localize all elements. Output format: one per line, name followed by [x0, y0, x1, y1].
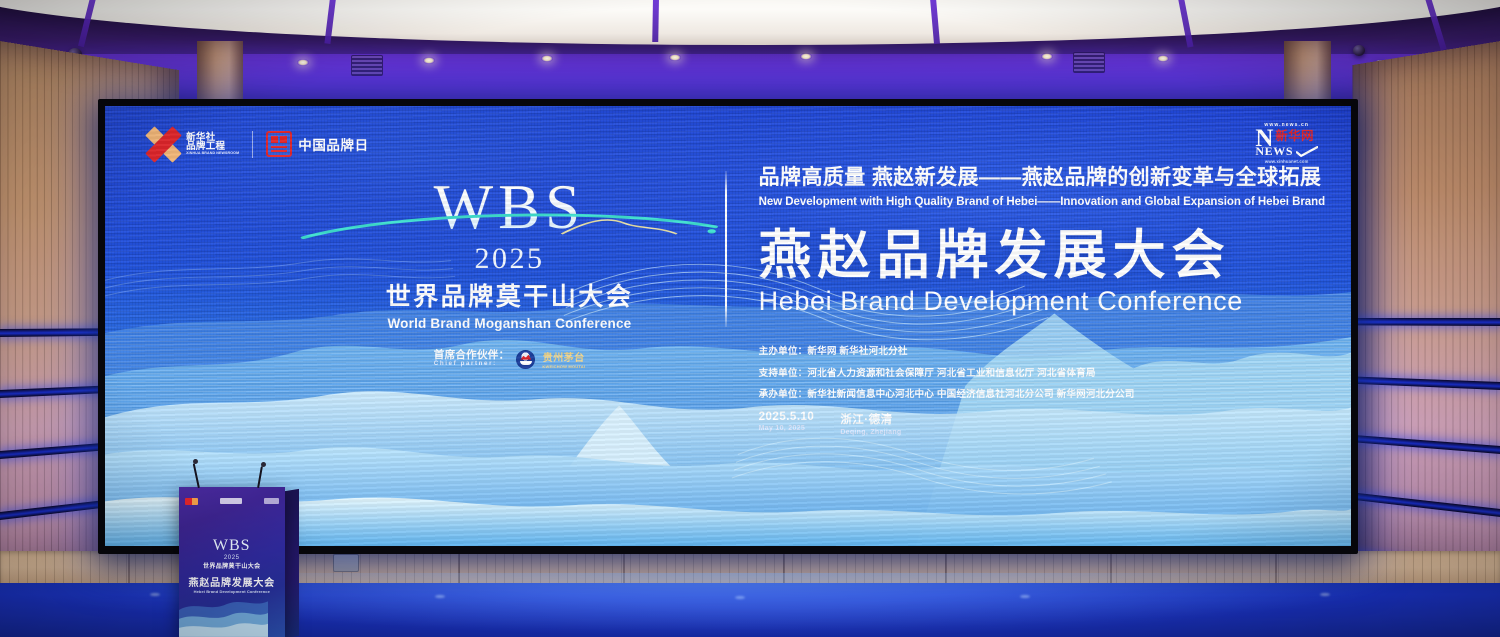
china-brand-day-logo: 中国品牌日: [266, 131, 369, 157]
ceiling-air-vent: [351, 55, 383, 76]
ceiling-downlight: [800, 53, 812, 60]
main-text-column: 品牌高质量 燕赵新发展——燕赵品牌的创新变革与全球拓展 New Developm…: [759, 161, 1326, 436]
speaker-podium[interactable]: WBS 2025 世界品牌莫干山大会 燕赵品牌发展大会 Hebei Brand …: [179, 487, 286, 637]
wall-light-strip: [1352, 493, 1500, 518]
podium-microphone-head: [261, 462, 266, 467]
theme-line-cn: 品牌高质量 燕赵新发展——燕赵品牌的创新变革与全球拓展: [759, 161, 1326, 191]
chief-partner-label: 首席合作伙伴： Chief partner:: [434, 350, 510, 367]
podium-side-panel: [285, 489, 299, 637]
wbs-logo-block: WBS 2025 世界品牌莫干山大会 World Brand Moganshan…: [323, 174, 697, 369]
theme-line-en: New Development with High Quality Brand …: [759, 196, 1326, 208]
podium-front-panel: WBS 2025 世界品牌莫干山大会 燕赵品牌发展大会 Hebei Brand …: [179, 487, 286, 637]
podium-xinhua-mark-icon: [185, 498, 198, 505]
wall-light-strip: [1352, 318, 1500, 326]
ceiling-downlight: [1041, 53, 1053, 60]
vertical-divider: [725, 171, 727, 327]
wbs-title-cn: 世界品牌莫干山大会: [323, 277, 697, 313]
ceiling-downlight: [423, 57, 435, 64]
ceiling-beam: [652, 0, 659, 42]
wall-sign-plate: [333, 554, 359, 572]
podium-logo-row: [185, 498, 279, 505]
chief-partner-label-en: Chief partner:: [434, 361, 510, 367]
led-screen-frame: 新华社 品牌工程 XINHUA BRAND NEWSROOM: [98, 99, 1358, 554]
ceiling-downlight: [669, 54, 681, 61]
brand-seal-icon: [266, 131, 292, 157]
moutai-name: 贵州茅台 KWEICHOW MOUTAI: [542, 349, 585, 369]
news-word: NEWS: [1255, 144, 1293, 159]
wall-light-strip: [1352, 377, 1500, 391]
ceiling-downlight: [297, 59, 309, 66]
organizer-list: 主办单位：新华网 新华社河北分社 支持单位：河北省人力资源和社会保障厅 河北省工…: [759, 343, 1326, 400]
news-checkmark-icon: [1296, 146, 1318, 157]
place-block: 浙江·德清 Deqing, Zhejiang: [840, 411, 901, 436]
chief-partner-row: 首席合作伙伴： Chief partner: 贵州茅台 KWEICHOW MOU…: [323, 349, 697, 369]
organizer-line-support: 支持单位：河北省人力资源和社会保障厅 河北省工业和信息化厅 河北省体育局: [759, 365, 1326, 379]
led-screen[interactable]: 新华社 品牌工程 XINHUA BRAND NEWSROOM: [105, 106, 1351, 546]
right-wall: [1352, 41, 1500, 595]
date-en: May 10, 2025: [759, 425, 815, 432]
date-block: 2025.5.10 May 10, 2025: [759, 411, 815, 432]
screen-content: 新华社 品牌工程 XINHUA BRAND NEWSROOM: [105, 106, 1351, 546]
xinhua-line3: XINHUA BRAND NEWSROOM: [186, 152, 239, 156]
ceiling-speaker: [1353, 45, 1365, 56]
wbs-logo: WBS: [323, 174, 697, 246]
news-cn-logo: www.news.cn N 新华网 NEWS www.xinhuanet.com: [1255, 122, 1318, 164]
podium-wbs-block: WBS 2025 世界品牌莫干山大会: [179, 538, 286, 570]
organizer-line-host: 主办单位：新华网 新华社河北分社: [759, 343, 1326, 357]
top-left-logo-bar: 新华社 品牌工程 XINHUA BRAND NEWSROOM: [148, 129, 369, 160]
ceiling-air-vent: [1073, 52, 1105, 73]
ceiling-downlight: [1157, 55, 1169, 62]
place-en: Deqing, Zhejiang: [840, 429, 901, 436]
podium-wbs-letters: WBS: [179, 538, 286, 554]
logo-divider: [252, 131, 253, 158]
podium-wave-graphic: [179, 583, 269, 637]
moutai-logo-icon: [516, 350, 535, 369]
podium-subtitle-cn: 世界品牌莫干山大会: [179, 561, 286, 570]
xinhua-brand-logo: 新华社 品牌工程 XINHUA BRAND NEWSROOM: [148, 129, 239, 160]
conference-title-en: Hebei Brand Development Conference: [759, 286, 1326, 317]
podium-brandday-mark-icon: [220, 498, 242, 504]
podium-news-mark-icon: [264, 498, 279, 504]
conference-hall-scene: 新华社 品牌工程 XINHUA BRAND NEWSROOM: [0, 0, 1500, 637]
wbs-mountain-swoosh-icon: [300, 207, 719, 243]
wbs-year: 2025: [323, 242, 697, 276]
moutai-name-cn: 贵州茅台: [542, 349, 585, 364]
news-logo-row2: NEWS: [1255, 144, 1318, 159]
date-cn: 2025.5.10: [759, 411, 815, 423]
china-brand-day-label: 中国品牌日: [298, 134, 369, 154]
date-place-row: 2025.5.10 May 10, 2025 浙江·德清 Deqing, Zhe…: [759, 411, 1326, 436]
news-cn-label: 新华网: [1275, 130, 1313, 143]
xinhua-brand-text: 新华社 品牌工程 XINHUA BRAND NEWSROOM: [186, 133, 239, 156]
moutai-name-en: KWEICHOW MOUTAI: [542, 364, 585, 369]
xinhua-x-mark-icon: [148, 129, 179, 160]
conference-title-cn: 燕赵品牌发展大会: [759, 226, 1326, 285]
organizer-line-executor: 承办单位：新华社新闻信息中心河北中心 中国经济信息社河北分公司 新华网河北分公司: [759, 386, 1326, 400]
wall-light-strip: [1352, 435, 1500, 454]
place-cn: 浙江·德清: [840, 411, 901, 427]
wbs-title-en: World Brand Moganshan Conference: [323, 316, 697, 331]
